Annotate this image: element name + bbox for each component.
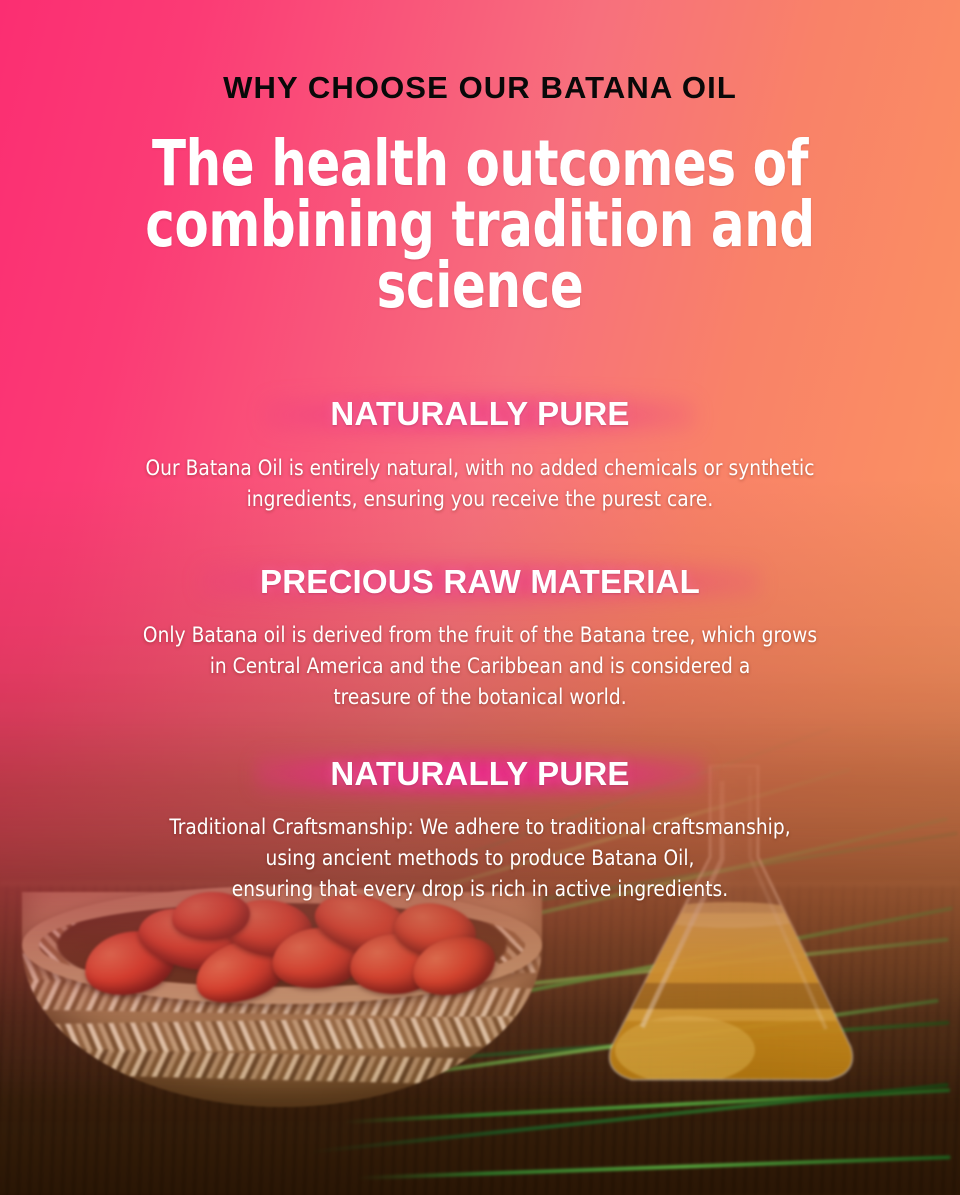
promo-poster: WHY CHOOSE OUR BATANA OIL The health out… xyxy=(0,0,960,1195)
section-1-heading-band: NATURALLY PURE xyxy=(0,390,960,439)
poster-content: WHY CHOOSE OUR BATANA OIL The health out… xyxy=(0,72,960,906)
section-2-heading-band: PRECIOUS RAW MATERIAL xyxy=(0,558,960,607)
benefit-section-3: NATURALLY PURE Traditional Craftsmanship… xyxy=(0,750,960,906)
benefit-section-2: PRECIOUS RAW MATERIAL Only Batana oil is… xyxy=(0,558,960,714)
benefit-section-1: NATURALLY PURE Our Batana Oil is entirel… xyxy=(0,390,960,515)
section-3-heading-band: NATURALLY PURE xyxy=(0,750,960,799)
section-1-body: Our Batana Oil is entirely natural, with… xyxy=(101,454,859,516)
section-3-heading: NATURALLY PURE xyxy=(330,755,629,792)
section-2-heading: PRECIOUS RAW MATERIAL xyxy=(260,563,700,600)
section-3-body: Traditional Craftsmanship: We adhere to … xyxy=(115,813,845,906)
section-1-heading: NATURALLY PURE xyxy=(330,395,629,432)
headline-line-2: combining tradition and science xyxy=(58,194,903,316)
page-headline: The health outcomes of combining traditi… xyxy=(58,133,903,316)
headline-line-1: The health outcomes of xyxy=(58,133,903,194)
section-2-body: Only Batana oil is derived from the frui… xyxy=(101,621,859,714)
eyebrow-title: WHY CHOOSE OUR BATANA OIL xyxy=(0,72,960,103)
